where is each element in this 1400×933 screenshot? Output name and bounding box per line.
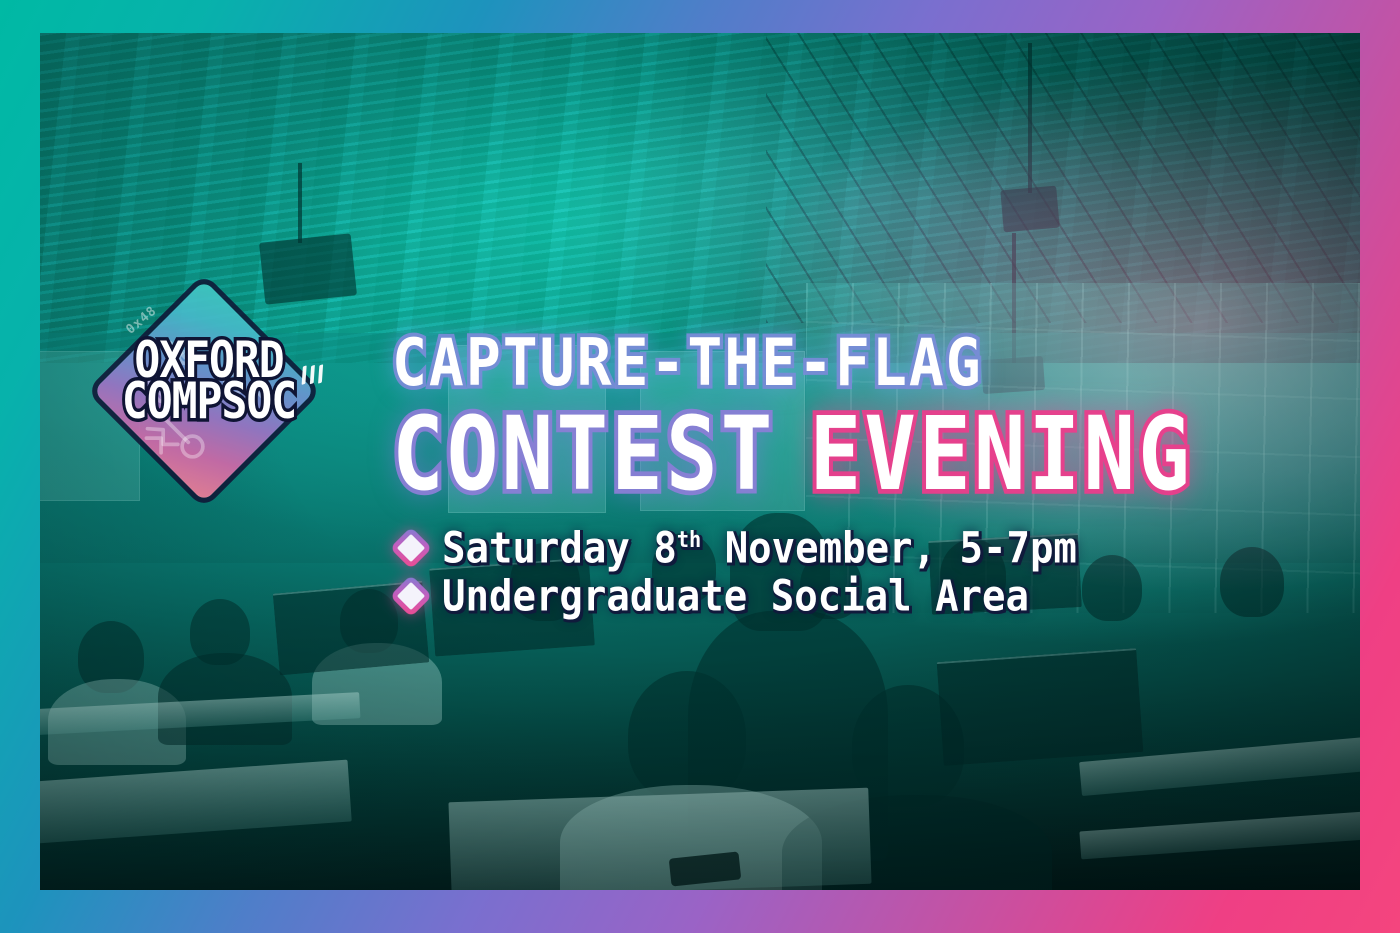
diamond-bullet-icon	[390, 575, 432, 617]
eyebrow-capture-the-flag: CAPTURE-THE-FLAG	[392, 330, 1322, 395]
detail-date-prefix: Saturday 8	[442, 523, 677, 573]
title-word-contest: CONTEST	[392, 404, 775, 505]
detail-date-suffix: November, 5-7pm	[701, 523, 1077, 573]
page-title: CONTESTEVENING	[392, 404, 1322, 505]
headline-block: CAPTURE-THE-FLAG CONTESTEVENING	[392, 330, 1322, 490]
event-poster: 0x48 OXFORD COMPSOC CAPTURE-THE-FLAG CON…	[0, 0, 1400, 933]
list-item: Undergraduate Social Area	[396, 572, 1077, 620]
logo-line-compsoc: COMPSOC	[84, 379, 334, 427]
title-word-evening: EVENING	[809, 404, 1192, 505]
logo-wordmark: OXFORD COMPSOC	[84, 341, 334, 424]
detail-date-time: Saturday 8th November, 5-7pm	[442, 523, 1077, 573]
detail-location: Undergraduate Social Area	[442, 571, 1029, 621]
compsoc-logo[interactable]: 0x48 OXFORD COMPSOC	[98, 285, 310, 497]
eyebrow-text: CAPTURE-THE-FLAG	[392, 324, 983, 400]
event-details-list: Saturday 8th November, 5-7pm Undergradua…	[396, 524, 1077, 620]
list-item: Saturday 8th November, 5-7pm	[396, 524, 1077, 572]
diamond-bullet-icon	[390, 527, 432, 569]
detail-date-ordinal: th	[677, 525, 701, 551]
